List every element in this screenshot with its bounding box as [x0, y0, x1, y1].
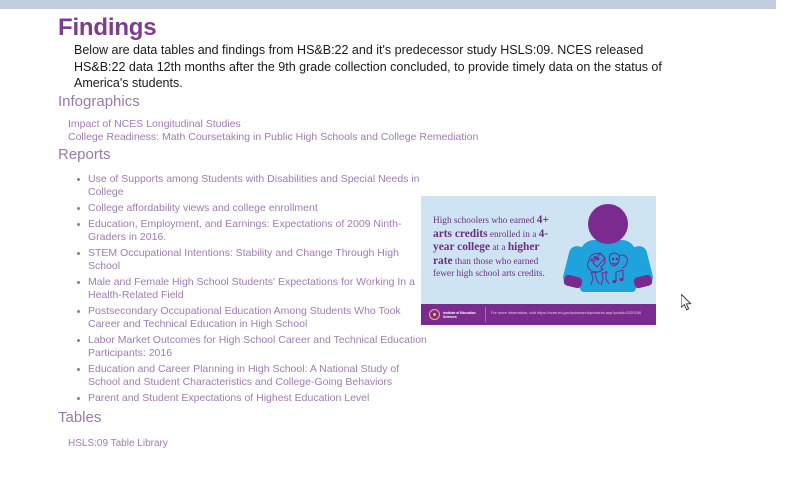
infographic-footer: Institute of Education Sciences For more… [421, 304, 656, 325]
infographic-image[interactable]: High schoolers who earned 4+ arts credit… [421, 196, 656, 325]
report-link-4[interactable]: STEM Occupational Intentions: Stability … [88, 247, 399, 272]
list-item: Male and Female High School Students' Ex… [88, 276, 433, 302]
footer-divider [485, 307, 486, 322]
ies-logo-text: Institute of Education Sciences [443, 311, 481, 319]
list-item: Impact of NCES Longitudinal Studies [58, 118, 678, 132]
report-link-9[interactable]: Parent and Student Expectations of Highe… [88, 392, 369, 404]
figure-head [588, 204, 628, 244]
infographic-fineprint: For more information, visit https://nces… [491, 310, 651, 316]
report-link-7[interactable]: Labor Market Outcomes for High School Ca… [88, 334, 427, 359]
report-link-5[interactable]: Male and Female High School Students' Ex… [88, 276, 415, 301]
infographics-link-list: Impact of NCES Longitudinal Studies Coll… [58, 118, 678, 145]
infographic-line-3-post: at a [490, 243, 505, 253]
list-item: College affordability views and college … [88, 202, 433, 215]
ies-seal-icon [429, 309, 440, 320]
window-top-strip [0, 0, 776, 9]
report-link-2[interactable]: College affordability views and college … [88, 202, 318, 214]
infographic-line-6: arts credits. [502, 269, 545, 279]
infographics-link-2[interactable]: College Readiness: Math Coursetaking in … [68, 131, 478, 143]
page-title: Findings [58, 14, 678, 42]
list-item: Use of Supports among Students with Disa… [88, 173, 433, 199]
infographic-line-4-post: than those [453, 257, 493, 267]
intro-paragraph: Below are data tables and findings from … [58, 42, 674, 92]
report-link-8[interactable]: Education and Career Planning in High Sc… [88, 363, 399, 388]
ies-logo: Institute of Education Sciences [429, 308, 481, 321]
list-item: Parent and Student Expectations of Highe… [88, 392, 433, 405]
section-heading-reports: Reports [58, 145, 678, 165]
list-item: College Readiness: Math Coursetaking in … [58, 131, 678, 145]
report-link-3[interactable]: Education, Employment, and Earnings: Exp… [88, 218, 401, 243]
infographics-link-1[interactable]: Impact of NCES Longitudinal Studies [68, 118, 241, 130]
list-item: Labor Market Outcomes for High School Ca… [88, 334, 433, 360]
list-item: STEM Occupational Intentions: Stability … [88, 247, 433, 273]
infographic-line-1: High schoolers who earned [433, 216, 534, 226]
list-item: HSLS:09 Table Library [58, 437, 678, 450]
tables-link-list: HSLS:09 Table Library [58, 437, 678, 450]
report-link-1[interactable]: Use of Supports among Students with Disa… [88, 173, 420, 198]
infographic-line-3-pre: in a [523, 230, 539, 240]
list-item: Education, Employment, and Earnings: Exp… [88, 218, 433, 244]
section-heading-tables: Tables [58, 408, 678, 428]
list-item: Education and Career Planning in High Sc… [88, 363, 433, 389]
page-content-area: Findings Below are data tables and findi… [0, 9, 795, 477]
mouse-cursor [681, 294, 693, 312]
infographic-statement: High schoolers who earned 4+ arts credit… [433, 214, 561, 281]
infographic-line-2-post: enrolled [488, 230, 521, 240]
infographic-body: High schoolers who earned 4+ arts credit… [421, 196, 656, 304]
list-item: Postsecondary Occupational Education Amo… [88, 305, 433, 331]
window-top-strip-gap [776, 0, 795, 9]
section-heading-infographics: Infographics [58, 92, 678, 112]
report-link-6[interactable]: Postsecondary Occupational Education Amo… [88, 305, 401, 330]
arts-symbols-icon [586, 250, 631, 288]
tables-link-1[interactable]: HSLS:09 Table Library [68, 438, 168, 449]
student-figure-icon [564, 202, 652, 302]
